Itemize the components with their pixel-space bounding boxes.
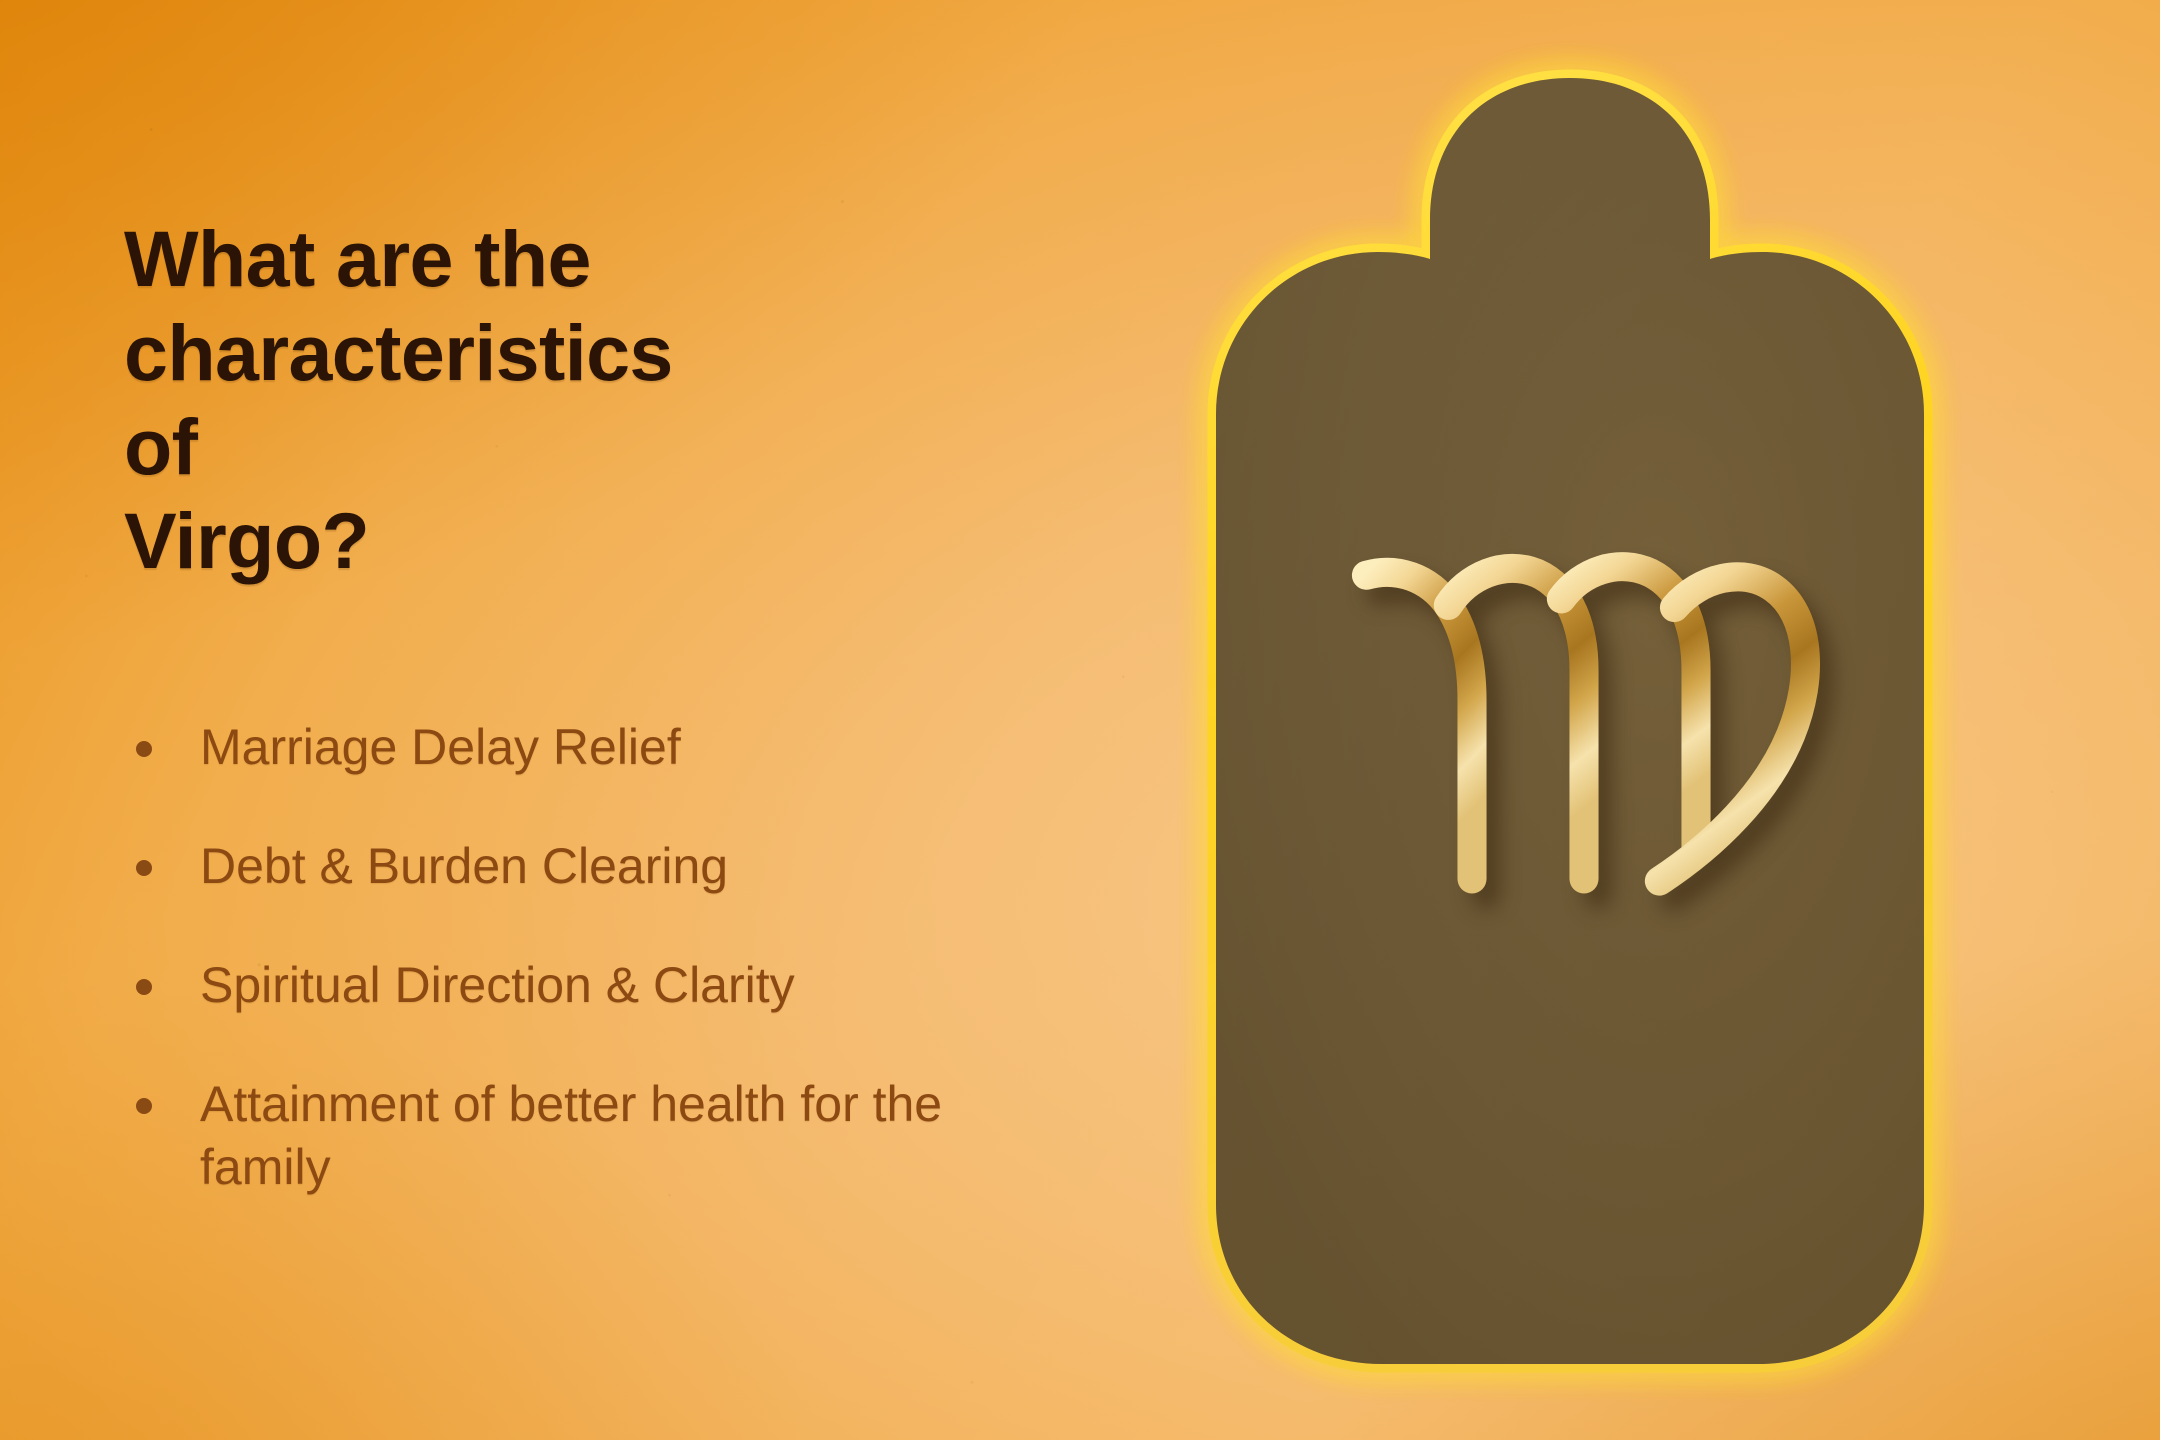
bullet-dot-icon xyxy=(136,979,152,995)
bullet-dot-icon xyxy=(136,860,152,876)
headline-line-1: What are the xyxy=(124,214,591,303)
list-item-label: Attainment of better health for the fami… xyxy=(200,1076,942,1195)
list-item-label: Marriage Delay Relief xyxy=(200,719,681,775)
list-item-label: Debt & Burden Clearing xyxy=(200,838,728,894)
page-title: What are thecharacteristics ofVirgo? xyxy=(124,212,724,588)
zodiac-glyph-container xyxy=(1182,56,1958,1386)
list-item-label: Spiritual Direction & Clarity xyxy=(200,957,795,1013)
bullet-dot-icon xyxy=(136,741,152,757)
poster-canvas: What are thecharacteristics ofVirgo? Mar… xyxy=(0,0,2160,1440)
characteristics-list: Marriage Delay Relief Debt & Burden Clea… xyxy=(124,716,1084,1199)
list-item: Marriage Delay Relief xyxy=(124,716,1084,779)
content-column: What are thecharacteristics ofVirgo? Mar… xyxy=(124,212,1084,1199)
list-item: Debt & Burden Clearing xyxy=(124,835,1084,898)
bullet-dot-icon xyxy=(136,1098,152,1114)
headline-line-3: Virgo? xyxy=(124,496,369,585)
zodiac-card xyxy=(1182,56,1958,1386)
headline-line-2: characteristics of xyxy=(124,308,673,491)
list-item: Attainment of better health for the fami… xyxy=(124,1073,1084,1199)
virgo-zodiac-glyph-icon xyxy=(1304,446,1864,1006)
list-item: Spiritual Direction & Clarity xyxy=(124,954,1084,1017)
